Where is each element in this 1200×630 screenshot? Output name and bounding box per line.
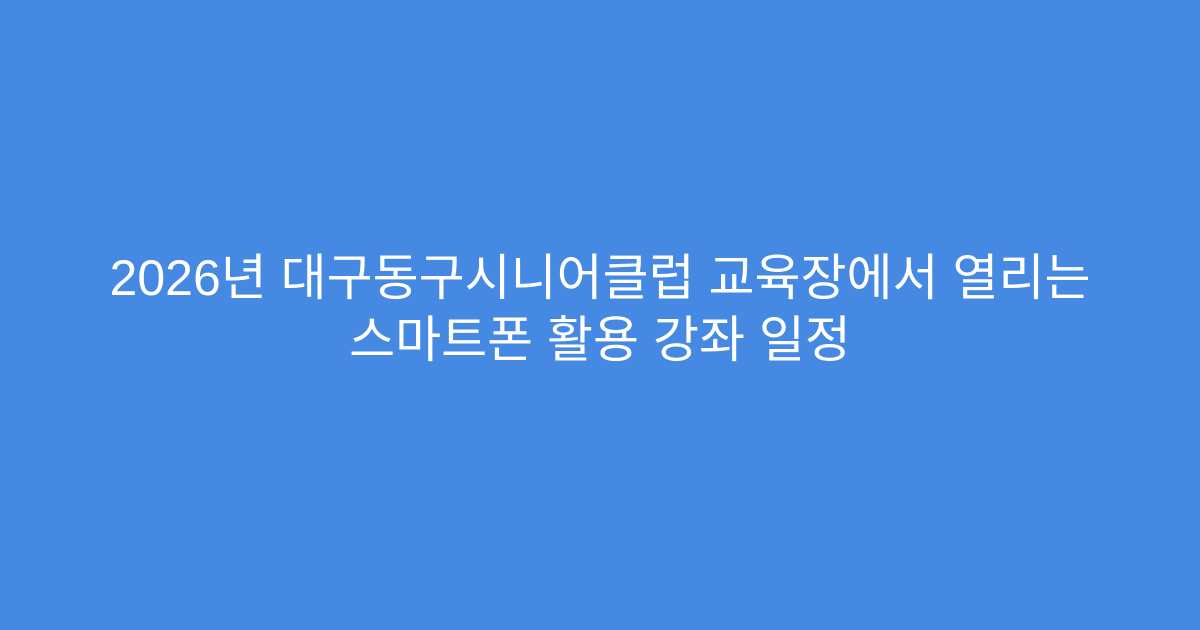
page-title-line-2: 스마트폰 활용 강좌 일정 bbox=[50, 309, 1150, 371]
banner-card: 2026년 대구동구시니어클럽 교육장에서 열리는 스마트폰 활용 강좌 일정 bbox=[0, 0, 1200, 630]
page-title-line-1: 2026년 대구동구시니어클럽 교육장에서 열리는 bbox=[50, 247, 1150, 309]
page-title: 2026년 대구동구시니어클럽 교육장에서 열리는 스마트폰 활용 강좌 일정 bbox=[50, 247, 1150, 371]
